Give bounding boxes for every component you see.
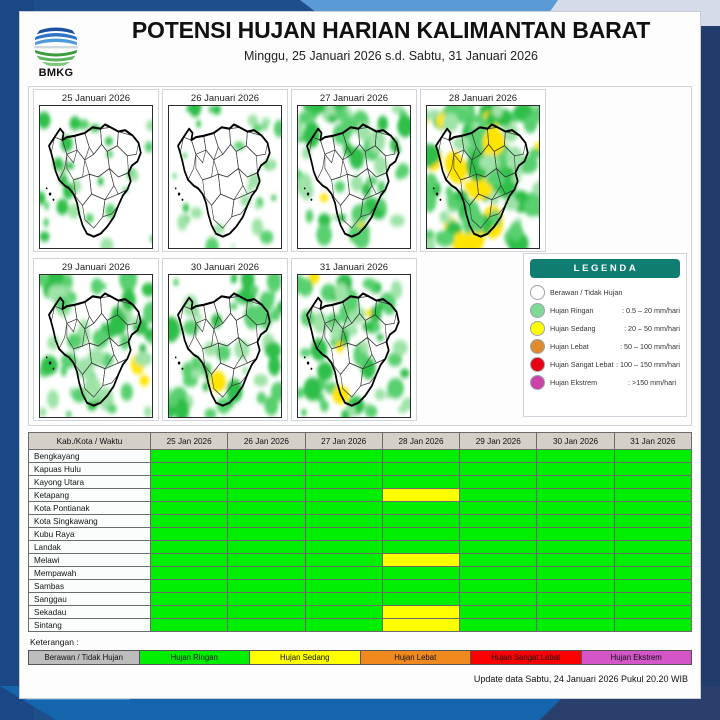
page-subtitle: Minggu, 25 Januari 2026 s.d. Sabtu, 31 J… bbox=[92, 49, 690, 63]
table-row-region-label: Melawi bbox=[29, 554, 151, 567]
forecast-cell-green bbox=[537, 515, 614, 528]
legend-item-value: : 20 – 50 mm/hari bbox=[624, 324, 680, 333]
map-panel-27-januari-2026: 27 Januari 2026 bbox=[291, 89, 417, 252]
map-panel-caption: 28 Januari 2026 bbox=[421, 90, 545, 105]
forecast-cell-green bbox=[305, 463, 382, 476]
forecast-cell-green bbox=[228, 489, 305, 502]
forecast-cell-green bbox=[228, 463, 305, 476]
map-panel-caption: 29 Januari 2026 bbox=[34, 259, 158, 274]
map-canvas bbox=[297, 274, 411, 418]
forecast-cell-green bbox=[305, 606, 382, 619]
table-row-region-label: Landak bbox=[29, 541, 151, 554]
legend-item: Hujan Ringan: 0.5 – 20 mm/hari bbox=[530, 301, 680, 319]
map-panel-caption: 27 Januari 2026 bbox=[292, 90, 416, 105]
map-canvas bbox=[168, 105, 282, 249]
keterangan-bar: Berawan / Tidak HujanHujan RinganHujan S… bbox=[28, 650, 692, 665]
forecast-cell-green bbox=[151, 450, 228, 463]
forecast-cell-green bbox=[305, 554, 382, 567]
forecast-cell-green bbox=[614, 554, 691, 567]
forecast-cell-green bbox=[151, 580, 228, 593]
legend-color-swatch-icon bbox=[530, 321, 545, 336]
forecast-cell-green bbox=[537, 593, 614, 606]
forecast-cell-green bbox=[305, 541, 382, 554]
legend-item: Berawan / Tidak Hujan bbox=[530, 283, 680, 301]
poster-card: BMKG POTENSI HUJAN HARIAN KALIMANTAN BAR… bbox=[20, 12, 700, 698]
table-row-region-label: Sintang bbox=[29, 619, 151, 632]
legend-title: LEGENDA bbox=[530, 259, 680, 278]
forecast-cell-green bbox=[151, 476, 228, 489]
forecast-cell-green bbox=[305, 528, 382, 541]
map-panel-25-januari-2026: 25 Januari 2026 bbox=[33, 89, 159, 252]
table-row: Sanggau bbox=[29, 593, 692, 606]
table-body: BengkayangKapuas HuluKayong UtaraKetapan… bbox=[29, 450, 692, 632]
forecast-cell-green bbox=[228, 619, 305, 632]
map-panel-29-januari-2026: 29 Januari 2026 bbox=[33, 258, 159, 421]
forecast-cell-green bbox=[151, 554, 228, 567]
forecast-cell-green bbox=[614, 528, 691, 541]
forecast-cell-green bbox=[614, 502, 691, 515]
map-panel-caption: 25 Januari 2026 bbox=[34, 90, 158, 105]
table-row-region-label: Mempawah bbox=[29, 567, 151, 580]
forecast-cell-green bbox=[537, 606, 614, 619]
table-row-region-label: Kubu Raya bbox=[29, 528, 151, 541]
forecast-table-wrap: Kab./Kota / Waktu25 Jan 202626 Jan 20262… bbox=[28, 432, 692, 632]
update-timestamp: Update data Sabtu, 24 Januari 2026 Pukul… bbox=[20, 674, 688, 684]
table-head: Kab./Kota / Waktu25 Jan 202626 Jan 20262… bbox=[29, 433, 692, 450]
map-canvas bbox=[168, 274, 282, 418]
forecast-cell-green bbox=[382, 515, 459, 528]
forecast-cell-yellow bbox=[382, 554, 459, 567]
forecast-cell-green bbox=[537, 450, 614, 463]
forecast-cell-green bbox=[614, 567, 691, 580]
table-row-region-label: Sekadau bbox=[29, 606, 151, 619]
legend-panel: LEGENDA Berawan / Tidak HujanHujan Ringa… bbox=[523, 253, 687, 417]
forecast-cell-green bbox=[151, 567, 228, 580]
legend-item: Hujan Lebat: 50 – 100 mm/hari bbox=[530, 337, 680, 355]
map-canvas bbox=[297, 105, 411, 249]
keterangan-segment: Hujan Sedang bbox=[250, 651, 361, 664]
forecast-cell-green bbox=[305, 476, 382, 489]
forecast-cell-green bbox=[614, 541, 691, 554]
forecast-cell-green bbox=[382, 567, 459, 580]
keterangan-segment: Berawan / Tidak Hujan bbox=[29, 651, 140, 664]
bmkg-logo: BMKG bbox=[28, 22, 84, 82]
forecast-cell-green bbox=[382, 580, 459, 593]
table-row: Landak bbox=[29, 541, 692, 554]
map-panel-caption: 30 Januari 2026 bbox=[163, 259, 287, 274]
table-row: Ketapang bbox=[29, 489, 692, 502]
map-panel-caption: 26 Januari 2026 bbox=[163, 90, 287, 105]
table-row: Kota Singkawang bbox=[29, 515, 692, 528]
forecast-cell-green bbox=[614, 593, 691, 606]
page-title: POTENSI HUJAN HARIAN KALIMANTAN BARAT bbox=[92, 18, 690, 43]
forecast-cell-green bbox=[460, 580, 537, 593]
table-header-region: Kab./Kota / Waktu bbox=[29, 433, 151, 450]
forecast-cell-green bbox=[614, 450, 691, 463]
table-row: Kapuas Hulu bbox=[29, 463, 692, 476]
legend-item-value: : 50 – 100 mm/hari bbox=[620, 342, 680, 351]
forecast-cell-green bbox=[305, 515, 382, 528]
forecast-cell-green bbox=[228, 580, 305, 593]
table-row: Bengkayang bbox=[29, 450, 692, 463]
forecast-cell-green bbox=[305, 567, 382, 580]
forecast-cell-green bbox=[228, 541, 305, 554]
legend-color-swatch-icon bbox=[530, 375, 545, 390]
forecast-cell-green bbox=[228, 515, 305, 528]
table-row: Kota Pontianak bbox=[29, 502, 692, 515]
forecast-cell-green bbox=[537, 580, 614, 593]
forecast-cell-green bbox=[460, 463, 537, 476]
forecast-cell-green bbox=[305, 580, 382, 593]
forecast-cell-green bbox=[460, 528, 537, 541]
forecast-cell-green bbox=[537, 554, 614, 567]
table-row-region-label: Bengkayang bbox=[29, 450, 151, 463]
forecast-cell-green bbox=[228, 567, 305, 580]
keterangan-segment: Hujan Ringan bbox=[140, 651, 251, 664]
forecast-cell-green bbox=[151, 463, 228, 476]
forecast-cell-green bbox=[382, 502, 459, 515]
legend-item-label: Hujan Sedang bbox=[550, 324, 624, 333]
forecast-cell-green bbox=[537, 541, 614, 554]
table-row-region-label: Sanggau bbox=[29, 593, 151, 606]
map-panel-caption: 31 Januari 2026 bbox=[292, 259, 416, 274]
forecast-cell-green bbox=[305, 593, 382, 606]
forecast-cell-green bbox=[151, 489, 228, 502]
table-row: Sambas bbox=[29, 580, 692, 593]
forecast-cell-green bbox=[460, 541, 537, 554]
table-header-row: Kab./Kota / Waktu25 Jan 202626 Jan 20262… bbox=[29, 433, 692, 450]
legend-item-value: : >150 mm/hari bbox=[628, 378, 676, 387]
forecast-cell-green bbox=[305, 450, 382, 463]
forecast-cell-green bbox=[537, 567, 614, 580]
legend-item-label: Hujan Ekstrem bbox=[550, 378, 628, 387]
forecast-cell-green bbox=[460, 593, 537, 606]
table-header-date-6: 30 Jan 2026 bbox=[537, 433, 614, 450]
forecast-cell-yellow bbox=[382, 606, 459, 619]
forecast-cell-green bbox=[305, 489, 382, 502]
forecast-cell-green bbox=[614, 515, 691, 528]
forecast-cell-green bbox=[460, 554, 537, 567]
forecast-cell-green bbox=[151, 619, 228, 632]
forecast-cell-green bbox=[537, 489, 614, 502]
map-panel-30-januari-2026: 30 Januari 2026 bbox=[162, 258, 288, 421]
table-header-date-3: 27 Jan 2026 bbox=[305, 433, 382, 450]
table-row-region-label: Kayong Utara bbox=[29, 476, 151, 489]
forecast-cell-green bbox=[151, 606, 228, 619]
bmkg-logo-text: BMKG bbox=[39, 67, 74, 79]
forecast-cell-green bbox=[537, 619, 614, 632]
table-row: Kayong Utara bbox=[29, 476, 692, 489]
keterangan-label: Keterangan : bbox=[30, 637, 700, 647]
forecast-cell-green bbox=[228, 593, 305, 606]
forecast-cell-green bbox=[382, 528, 459, 541]
forecast-cell-green bbox=[228, 528, 305, 541]
forecast-cell-green bbox=[537, 476, 614, 489]
forecast-cell-green bbox=[382, 541, 459, 554]
forecast-cell-green bbox=[460, 502, 537, 515]
legend-item: Hujan Sangat Lebat: 100 – 150 mm/hari bbox=[530, 355, 680, 373]
table-row: Sintang bbox=[29, 619, 692, 632]
forecast-cell-green bbox=[151, 528, 228, 541]
forecast-cell-green bbox=[614, 489, 691, 502]
forecast-cell-green bbox=[382, 476, 459, 489]
legend-item-value: : 100 – 150 mm/hari bbox=[616, 360, 680, 369]
table-row: Kubu Raya bbox=[29, 528, 692, 541]
table-header-date-7: 31 Jan 2026 bbox=[614, 433, 691, 450]
forecast-cell-yellow bbox=[382, 489, 459, 502]
table-header-date-4: 28 Jan 2026 bbox=[382, 433, 459, 450]
forecast-cell-green bbox=[228, 502, 305, 515]
forecast-cell-green bbox=[460, 606, 537, 619]
forecast-cell-green bbox=[614, 580, 691, 593]
legend-color-swatch-icon bbox=[530, 303, 545, 318]
legend-color-swatch-icon bbox=[530, 285, 545, 300]
legend-color-swatch-icon bbox=[530, 357, 545, 372]
map-canvas bbox=[426, 105, 540, 249]
forecast-cell-green bbox=[614, 463, 691, 476]
table-row-region-label: Ketapang bbox=[29, 489, 151, 502]
map-canvas bbox=[39, 105, 153, 249]
forecast-cell-green bbox=[382, 463, 459, 476]
legend-color-swatch-icon bbox=[530, 339, 545, 354]
map-panel-26-januari-2026: 26 Januari 2026 bbox=[162, 89, 288, 252]
forecast-cell-green bbox=[151, 541, 228, 554]
forecast-cell-green bbox=[460, 567, 537, 580]
legend-item: Hujan Ekstrem: >150 mm/hari bbox=[530, 373, 680, 391]
keterangan-segment: Hujan Ekstrem bbox=[582, 651, 692, 664]
forecast-cell-yellow bbox=[382, 619, 459, 632]
table-header-date-2: 26 Jan 2026 bbox=[228, 433, 305, 450]
keterangan-segment: Hujan Lebat bbox=[361, 651, 472, 664]
keterangan-segment: Hujan Sangat Lebat bbox=[471, 651, 582, 664]
forecast-cell-green bbox=[228, 606, 305, 619]
legend-item-label: Berawan / Tidak Hujan bbox=[550, 288, 628, 297]
forecast-cell-green bbox=[228, 554, 305, 567]
forecast-cell-green bbox=[151, 593, 228, 606]
table-header-date-1: 25 Jan 2026 bbox=[151, 433, 228, 450]
map-panel-28-januari-2026: 28 Januari 2026 bbox=[420, 89, 546, 252]
forecast-cell-green bbox=[305, 619, 382, 632]
table-row: Sekadau bbox=[29, 606, 692, 619]
bmkg-logo-icon bbox=[33, 22, 79, 68]
forecast-cell-green bbox=[460, 450, 537, 463]
forecast-cell-green bbox=[151, 502, 228, 515]
forecast-cell-green bbox=[382, 593, 459, 606]
forecast-cell-green bbox=[460, 619, 537, 632]
map-canvas bbox=[39, 274, 153, 418]
forecast-cell-green bbox=[537, 528, 614, 541]
forecast-cell-green bbox=[382, 450, 459, 463]
legend-items: Berawan / Tidak HujanHujan Ringan: 0.5 –… bbox=[530, 283, 680, 391]
forecast-cell-green bbox=[460, 489, 537, 502]
forecast-cell-green bbox=[614, 619, 691, 632]
forecast-cell-green bbox=[460, 476, 537, 489]
forecast-cell-green bbox=[537, 463, 614, 476]
table-row: Melawi bbox=[29, 554, 692, 567]
header: BMKG POTENSI HUJAN HARIAN KALIMANTAN BAR… bbox=[20, 18, 700, 84]
legend-item-label: Hujan Sangat Lebat bbox=[550, 360, 616, 369]
table-row-region-label: Kota Pontianak bbox=[29, 502, 151, 515]
forecast-cell-green bbox=[614, 476, 691, 489]
forecast-cell-green bbox=[460, 515, 537, 528]
title-block: POTENSI HUJAN HARIAN KALIMANTAN BARAT Mi… bbox=[20, 18, 700, 63]
forecast-table: Kab./Kota / Waktu25 Jan 202626 Jan 20262… bbox=[28, 432, 692, 632]
legend-item: Hujan Sedang: 20 – 50 mm/hari bbox=[530, 319, 680, 337]
table-row-region-label: Sambas bbox=[29, 580, 151, 593]
legend-item-value: : 0.5 – 20 mm/hari bbox=[622, 306, 680, 315]
map-panel-31-januari-2026: 31 Januari 2026 bbox=[291, 258, 417, 421]
maps-grid: 25 Januari 2026 26 Januari 2026 27 Janua… bbox=[28, 86, 692, 426]
forecast-cell-green bbox=[614, 606, 691, 619]
legend-item-label: Hujan Ringan bbox=[550, 306, 622, 315]
forecast-cell-green bbox=[228, 450, 305, 463]
forecast-cell-green bbox=[228, 476, 305, 489]
table-row: Mempawah bbox=[29, 567, 692, 580]
forecast-cell-green bbox=[537, 502, 614, 515]
table-row-region-label: Kota Singkawang bbox=[29, 515, 151, 528]
legend-item-label: Hujan Lebat bbox=[550, 342, 620, 351]
forecast-cell-green bbox=[305, 502, 382, 515]
forecast-cell-green bbox=[151, 515, 228, 528]
table-row-region-label: Kapuas Hulu bbox=[29, 463, 151, 476]
table-header-date-5: 29 Jan 2026 bbox=[460, 433, 537, 450]
